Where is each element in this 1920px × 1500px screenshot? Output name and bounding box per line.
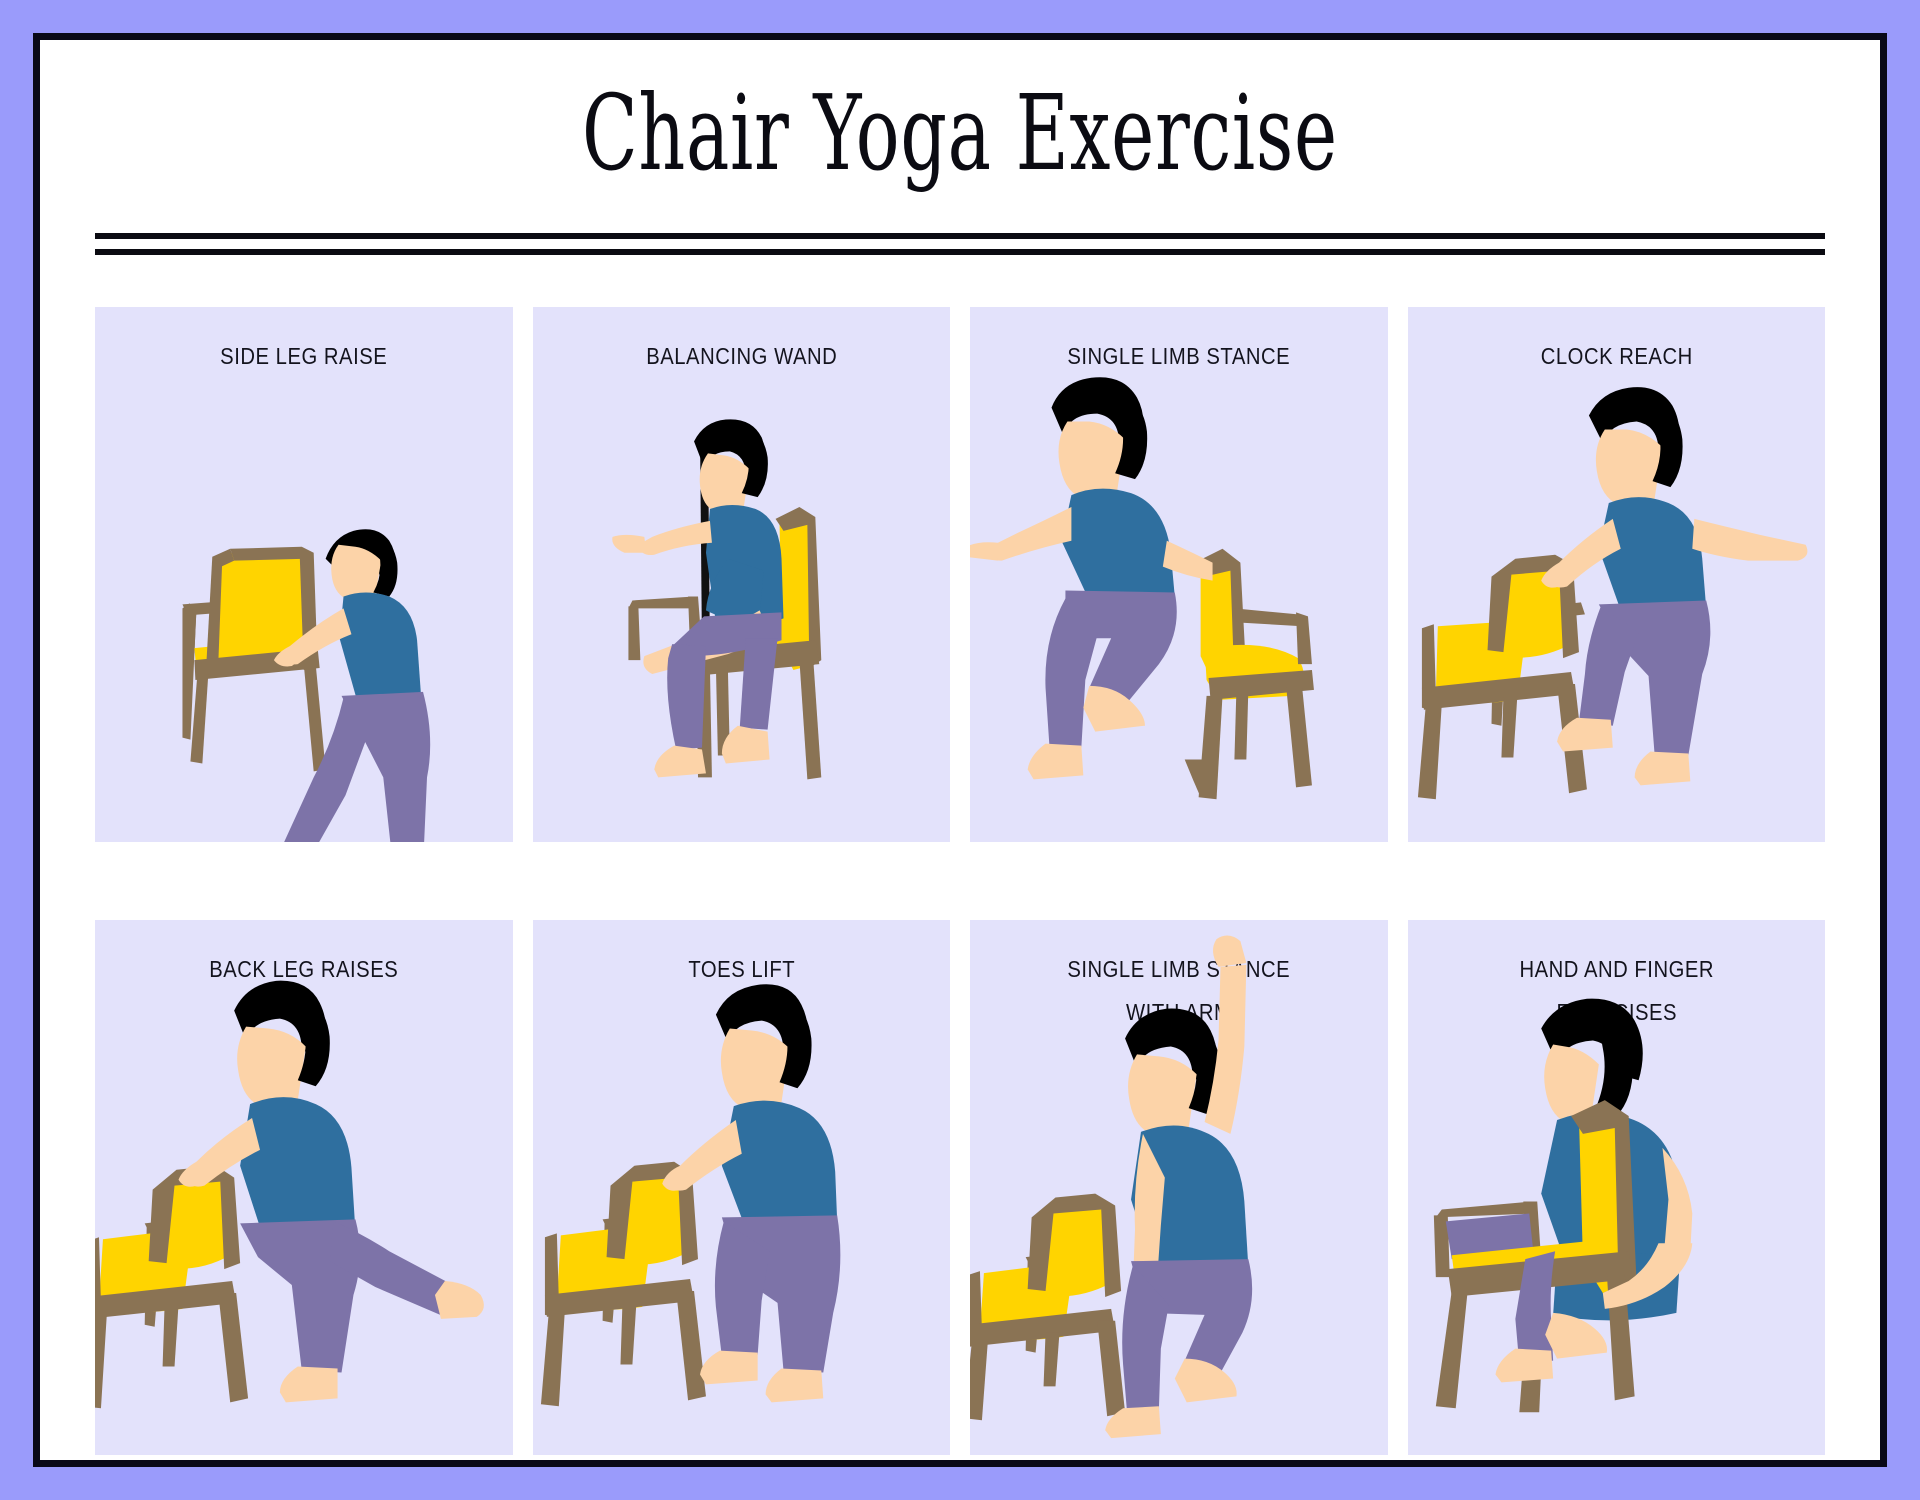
- illustration-toes-lift: [533, 920, 951, 1455]
- exercise-card-single-limb-stance-with-arm[interactable]: SINGLE LIMB STANCE WITH ARM: [970, 920, 1388, 1455]
- chair-single-limb-stance-with-arm: [970, 1194, 1125, 1421]
- exercise-card-clock-reach[interactable]: CLOCK REACH: [1408, 307, 1826, 842]
- exercise-card-toes-lift[interactable]: TOES LIFT: [533, 920, 951, 1455]
- exercise-card-balancing-wand[interactable]: BALANCING WAND: [533, 307, 951, 842]
- illustration-clock-reach: [1408, 307, 1826, 842]
- person-single-limb-stance: [970, 377, 1213, 779]
- illustration-single-limb-stance: [970, 307, 1388, 842]
- illustration-side-leg-raise: [95, 307, 513, 842]
- illustration-hand-and-finger-exercises: [1408, 920, 1826, 1455]
- person-clock-reach: [1541, 387, 1807, 785]
- chair-back-leg-raises: [95, 1166, 248, 1409]
- person-single-limb-stance-with-arm: [1105, 936, 1252, 1439]
- title-block: Chair Yoga Exercise: [80, 40, 1840, 225]
- chair-toes-lift: [540, 1162, 705, 1407]
- title-divider: [95, 225, 1825, 255]
- exercise-card-single-limb-stance[interactable]: SINGLE LIMB STANCE: [970, 307, 1388, 842]
- poster-frame: Chair Yoga Exercise SIDE LEG RAISE: [33, 33, 1887, 1467]
- poster-body: Chair Yoga Exercise SIDE LEG RAISE: [40, 40, 1880, 1460]
- divider-line-top: [95, 233, 1825, 239]
- chair-single-limb-stance: [1185, 549, 1314, 800]
- chair-clock-reach: [1417, 555, 1586, 800]
- illustration-back-leg-raises: [95, 920, 513, 1455]
- page-title: Chair Yoga Exercise: [582, 81, 1338, 185]
- exercise-card-back-leg-raises[interactable]: BACK LEG RAISES: [95, 920, 513, 1455]
- illustration-balancing-wand: [533, 307, 951, 842]
- exercise-card-side-leg-raise[interactable]: SIDE LEG RAISE: [95, 307, 513, 842]
- exercise-grid: SIDE LEG RAISE: [95, 255, 1825, 1455]
- exercise-card-hand-and-finger-exercises[interactable]: HAND AND FINGER EXERCISES: [1408, 920, 1826, 1455]
- illustration-single-limb-stance-with-arm: [970, 920, 1388, 1455]
